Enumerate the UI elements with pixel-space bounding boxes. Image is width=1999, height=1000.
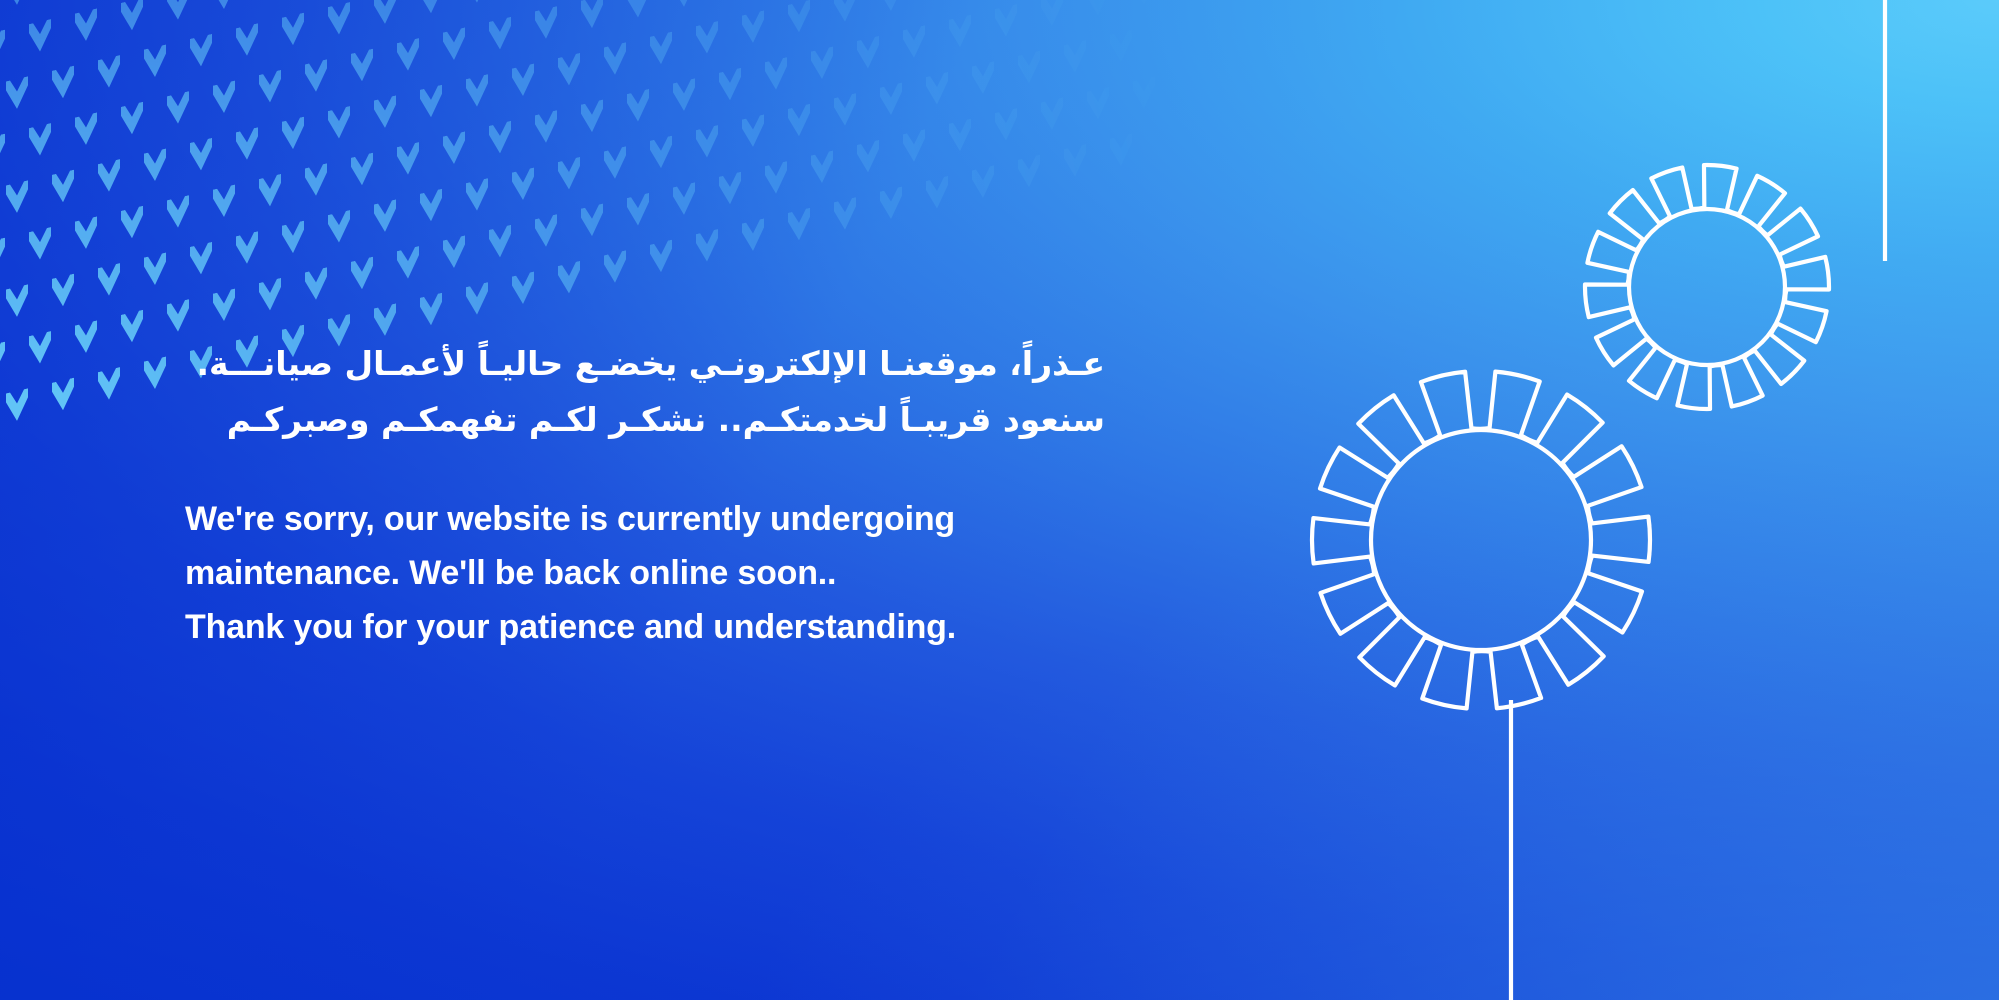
maintenance-page: عـذراً، موقعنـا الإلكترونـي يخضـع حاليـا…	[0, 0, 1999, 1000]
english-message: We're sorry, our website is currently un…	[185, 492, 1185, 654]
arabic-line-1: عـذراً، موقعنـا الإلكترونـي يخضـع حاليـا…	[185, 336, 1105, 392]
english-line-3: Thank you for your patience and understa…	[185, 600, 1185, 654]
english-line-1: We're sorry, our website is currently un…	[185, 492, 1185, 546]
arabic-line-2: سنعود قريبـاً لخدمتكـم.. نشكـر لكـم تفهم…	[185, 392, 1105, 448]
arabic-message: عـذراً، موقعنـا الإلكترونـي يخضـع حاليـا…	[185, 336, 1105, 448]
english-line-2: maintenance. We'll be back online soon..	[185, 546, 1185, 600]
message-block: عـذراً، موقعنـا الإلكترونـي يخضـع حاليـا…	[185, 336, 1185, 654]
